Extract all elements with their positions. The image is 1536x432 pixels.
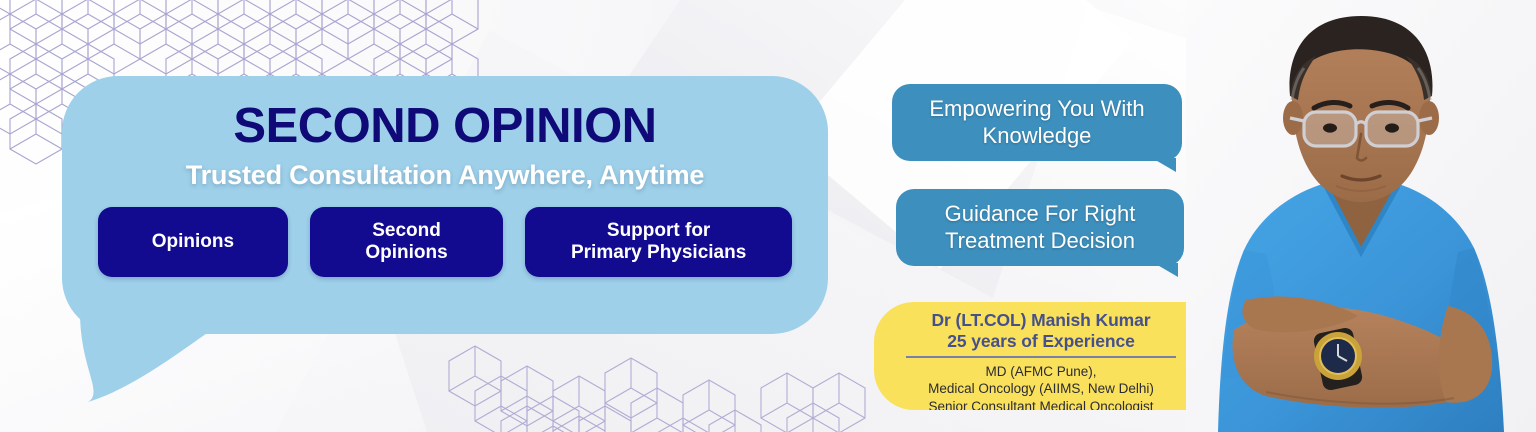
pill-opinions[interactable]: Opinions (98, 207, 288, 277)
second-opinion-banner: SECOND OPINION Trusted Consultation Anyw… (0, 0, 1536, 432)
doctor-credentials-card: Dr (LT.COL) Manish Kumar 25 years of Exp… (874, 302, 1204, 410)
feature-pill-row: Opinions Second Opinions Support for Pri… (62, 207, 828, 277)
bubble-tail-icon (1154, 263, 1178, 277)
main-speech-bubble: SECOND OPINION Trusted Consultation Anyw… (62, 76, 828, 402)
doctor-qualifications: MD (AFMC Pune), Medical Oncology (AIIMS,… (892, 363, 1190, 411)
doctor-photo (1186, 0, 1536, 432)
doctor-name: Dr (LT.COL) Manish Kumar 25 years of Exp… (892, 310, 1190, 352)
pill-support-for-primary-physicians[interactable]: Support for Primary Physicians (525, 207, 792, 277)
info-bubble-guidance: Guidance For Right Treatment Decision (896, 189, 1184, 266)
bubble-tail-icon (1152, 158, 1176, 172)
page-title: SECOND OPINION (62, 102, 828, 151)
divider (906, 356, 1176, 358)
info-bubble-empowering: Empowering You With Knowledge (892, 84, 1182, 161)
pill-second-opinions[interactable]: Second Opinions (310, 207, 503, 277)
info-bubble-text: Guidance For Right Treatment Decision (945, 201, 1136, 255)
subtitle: Trusted Consultation Anywhere, Anytime (62, 161, 828, 191)
info-bubble-text: Empowering You With Knowledge (929, 96, 1144, 150)
